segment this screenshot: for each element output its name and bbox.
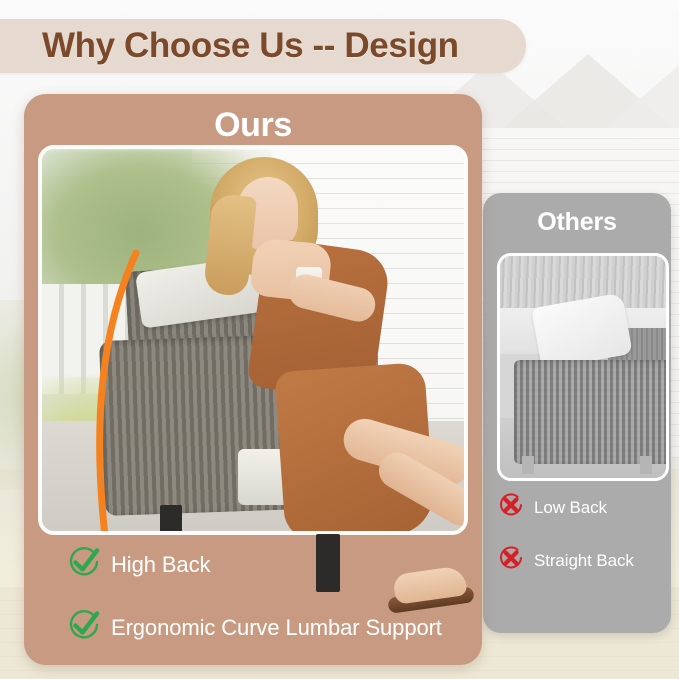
x-circle-icon — [497, 491, 525, 524]
others-sofa-leg — [640, 456, 652, 474]
check-circle-icon — [66, 607, 102, 648]
ours-feature-item: Ergonomic Curve Lumbar Support — [66, 607, 466, 648]
ours-product-photo — [38, 145, 468, 535]
title-banner: Why Choose Us -- Design — [0, 19, 526, 73]
others-sofa-body — [514, 360, 669, 464]
infographic-canvas: Why Choose Us -- Design Others — [0, 0, 679, 679]
ours-panel: Ours — [24, 94, 482, 665]
lumbar-curve-accent — [76, 249, 146, 535]
others-feature-item: Straight Back — [497, 544, 661, 577]
chair-leg — [160, 505, 182, 535]
others-sofa-leg — [522, 456, 534, 474]
others-panel-title: Others — [483, 208, 671, 237]
others-feature-label: Low Back — [534, 498, 607, 518]
others-feature-item: Low Back — [497, 491, 661, 524]
chair-leg-overflow — [316, 534, 340, 592]
ours-feature-label: Ergonomic Curve Lumbar Support — [111, 615, 442, 641]
others-feature-label: Straight Back — [534, 551, 634, 571]
others-feature-list: Low Back Straight Back — [497, 491, 661, 597]
others-product-photo — [497, 253, 669, 481]
ours-panel-title: Ours — [24, 106, 482, 145]
check-circle-icon — [66, 544, 102, 585]
page-title: Why Choose Us -- Design — [42, 26, 459, 66]
x-circle-icon — [497, 544, 525, 577]
ours-feature-label: High Back — [111, 552, 210, 578]
others-panel: Others Low Back — [483, 193, 671, 633]
